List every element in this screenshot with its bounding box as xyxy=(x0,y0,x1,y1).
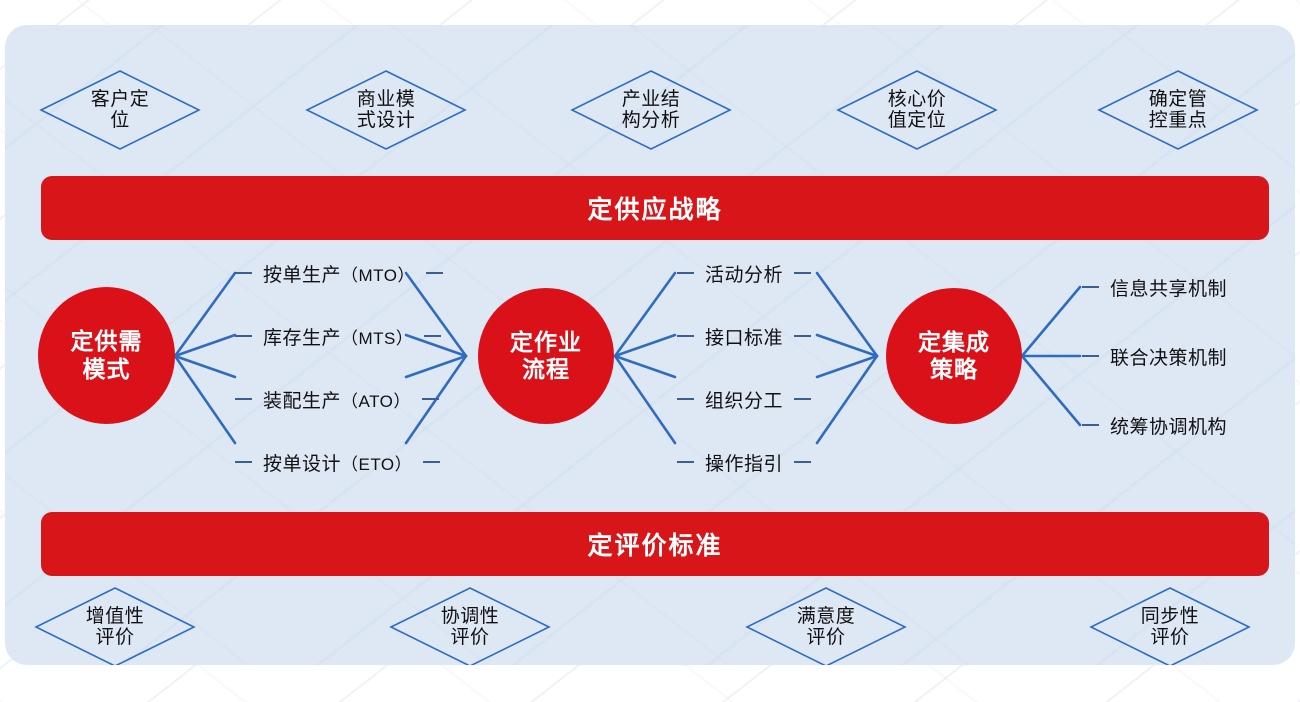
top-diamond-3-label: 产业结 构分析 xyxy=(570,69,732,151)
branch-label: 接口标准 xyxy=(705,323,783,350)
label-line-1: 核心价 xyxy=(888,89,947,110)
label-line-1: 增值性 xyxy=(86,606,145,627)
label-line-2: 控重点 xyxy=(1149,110,1208,131)
branch-info-sharing[interactable]: 信息共享机制 xyxy=(1082,273,1227,301)
branch-activity-analysis[interactable]: 活动分析 xyxy=(677,259,811,287)
branch-eto[interactable]: 按单设计 （ETO） xyxy=(235,448,440,476)
label-line-2: 评价 xyxy=(1150,627,1189,648)
branch-abbr: （MTS） xyxy=(341,324,413,349)
dash-right-icon xyxy=(794,272,811,275)
branch-label: 按单生产 xyxy=(263,260,341,287)
label-line-2: 位 xyxy=(110,110,130,131)
branch-label: 装配生产 xyxy=(263,386,341,413)
top-diamond-2[interactable]: 商业模 式设计 xyxy=(305,69,467,151)
dash-right-icon xyxy=(423,461,440,464)
dash-right-icon xyxy=(424,335,441,338)
branch-abbr: （ATO） xyxy=(341,387,411,412)
dash-right-icon xyxy=(794,335,811,338)
banner-evaluation-standard[interactable]: 定评价标准 xyxy=(41,512,1269,576)
dash-left-icon xyxy=(677,335,694,338)
branch-label: 信息共享机制 xyxy=(1110,274,1227,301)
top-diamond-4-label: 核心价 值定位 xyxy=(836,69,998,151)
banner-supply-strategy[interactable]: 定供应战略 xyxy=(41,176,1269,240)
label-line-2: 构分析 xyxy=(622,110,681,131)
label-line-2: 评价 xyxy=(95,627,134,648)
diagram-panel: 客户定 位 商业模 式设计 产业结 构分析 核心价 值定位 xyxy=(5,25,1295,665)
top-diamond-5[interactable]: 确定管 控重点 xyxy=(1097,69,1259,151)
circle-work-process[interactable]: 定作业 流程 xyxy=(478,288,614,424)
circle-label-line-2: 模式 xyxy=(83,356,131,383)
label-line-1: 同步性 xyxy=(1141,606,1200,627)
dash-left-icon xyxy=(677,398,694,401)
label-line-1: 确定管 xyxy=(1149,89,1208,110)
dash-right-icon xyxy=(426,272,443,275)
branch-label: 活动分析 xyxy=(705,260,783,287)
dash-left-icon xyxy=(235,272,252,275)
circle-label-line-2: 策略 xyxy=(930,356,978,383)
branch-label: 组织分工 xyxy=(705,386,783,413)
circle-label-line-1: 定供需 xyxy=(71,328,143,355)
dash-left-icon xyxy=(235,398,252,401)
circle-supply-demand-mode[interactable]: 定供需 模式 xyxy=(38,287,175,424)
branch-abbr: （ETO） xyxy=(341,450,412,475)
bottom-diamond-3-label: 满意度 评价 xyxy=(745,586,907,665)
label-line-2: 评价 xyxy=(806,627,845,648)
circle-label-line-1: 定作业 xyxy=(510,329,582,356)
bottom-diamond-2[interactable]: 协调性 评价 xyxy=(389,586,551,665)
branch-org-division[interactable]: 组织分工 xyxy=(677,385,811,413)
dash-right-icon xyxy=(794,461,811,464)
label-line-1: 产业结 xyxy=(622,89,681,110)
bottom-diamond-3[interactable]: 满意度 评价 xyxy=(745,586,907,665)
bottom-diamond-2-label: 协调性 评价 xyxy=(389,586,551,665)
top-diamond-5-label: 确定管 控重点 xyxy=(1097,69,1259,151)
circle-label-line-1: 定集成 xyxy=(918,329,990,356)
top-diamond-4[interactable]: 核心价 值定位 xyxy=(836,69,998,151)
branch-label: 统筹协调机构 xyxy=(1110,412,1227,439)
label-line-1: 满意度 xyxy=(797,606,856,627)
branch-mts[interactable]: 库存生产 （MTS） xyxy=(235,322,441,350)
branch-label: 操作指引 xyxy=(705,449,783,476)
top-diamond-3[interactable]: 产业结 构分析 xyxy=(570,69,732,151)
branch-interface-standard[interactable]: 接口标准 xyxy=(677,322,811,350)
branch-joint-decision[interactable]: 联合决策机制 xyxy=(1082,342,1227,370)
branch-mto[interactable]: 按单生产 （MTO） xyxy=(235,259,443,287)
circle-label-line-2: 流程 xyxy=(522,356,570,383)
dash-left-icon xyxy=(677,461,694,464)
label-line-2: 值定位 xyxy=(888,110,947,131)
circle-integration-strategy[interactable]: 定集成 策略 xyxy=(886,288,1022,424)
dash-left-icon xyxy=(235,461,252,464)
label-line-1: 客户定 xyxy=(91,89,150,110)
bottom-diamond-4[interactable]: 同步性 评价 xyxy=(1089,586,1251,665)
dash-left-icon xyxy=(235,335,252,338)
top-diamond-1[interactable]: 客户定 位 xyxy=(39,69,201,151)
branch-label: 联合决策机制 xyxy=(1110,343,1227,370)
bottom-diamond-4-label: 同步性 评价 xyxy=(1089,586,1251,665)
label-line-1: 协调性 xyxy=(441,606,500,627)
bottom-diamond-1[interactable]: 增值性 评价 xyxy=(34,586,196,665)
dash-left-icon xyxy=(1082,286,1099,289)
dash-left-icon xyxy=(1082,424,1099,427)
branch-abbr: （MTO） xyxy=(341,261,415,286)
branch-coordination-body[interactable]: 统筹协调机构 xyxy=(1082,411,1227,439)
branch-label: 按单设计 xyxy=(263,449,341,476)
dash-left-icon xyxy=(677,272,694,275)
dash-right-icon xyxy=(794,398,811,401)
branch-operation-guide[interactable]: 操作指引 xyxy=(677,448,811,476)
dash-left-icon xyxy=(1082,355,1099,358)
bottom-diamond-1-label: 增值性 评价 xyxy=(34,586,196,665)
dash-right-icon xyxy=(422,398,439,401)
top-diamond-1-label: 客户定 位 xyxy=(39,69,201,151)
label-line-2: 评价 xyxy=(450,627,489,648)
label-line-2: 式设计 xyxy=(357,110,416,131)
top-diamond-2-label: 商业模 式设计 xyxy=(305,69,467,151)
branch-ato[interactable]: 装配生产 （ATO） xyxy=(235,385,439,413)
label-line-1: 商业模 xyxy=(357,89,416,110)
branch-label: 库存生产 xyxy=(263,323,341,350)
